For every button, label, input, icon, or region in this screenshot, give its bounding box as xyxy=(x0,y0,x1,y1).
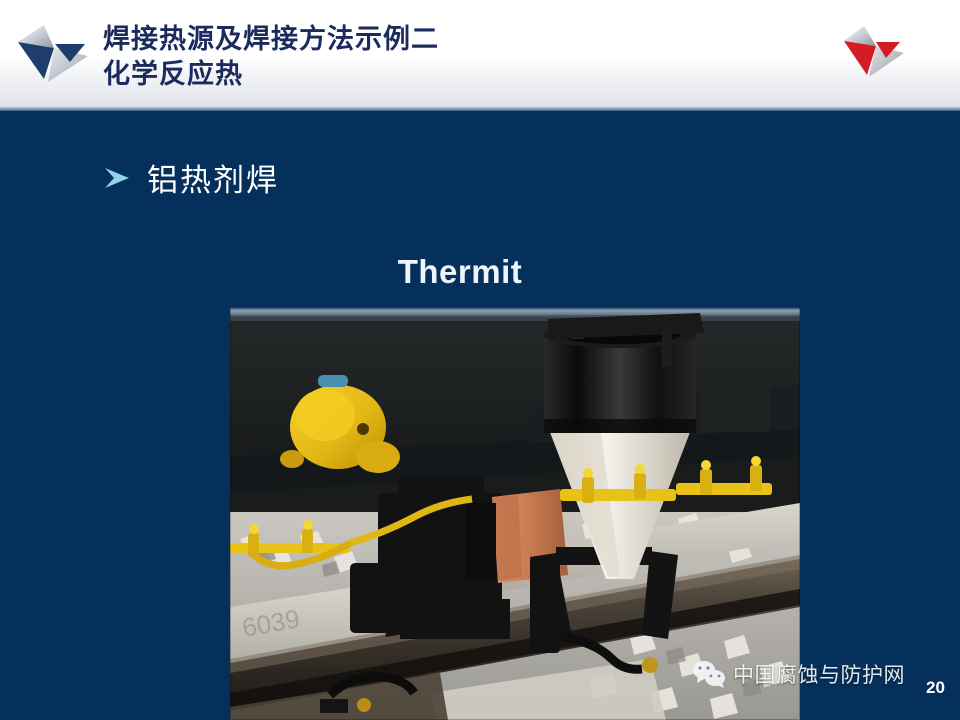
page-number: 20 xyxy=(926,678,945,698)
figure-heading: Thermit xyxy=(0,253,960,291)
page-title: 焊接热源及焊接方法示例二 化学反应热 xyxy=(103,22,439,92)
title-line-2: 化学反应热 xyxy=(103,57,439,92)
arrow-bullet-icon xyxy=(103,165,131,191)
watermark: 中国腐蚀与防护网 xyxy=(692,659,905,689)
presentation-slide: 焊接热源及焊接方法示例二 化学反应热 xyxy=(0,0,960,720)
title-line-1: 焊接热源及焊接方法示例二 xyxy=(103,22,439,57)
watermark-label: 中国腐蚀与防护网 xyxy=(733,659,905,689)
bullet-item: 铝热剂焊 xyxy=(103,155,279,200)
wechat-icon xyxy=(692,660,726,688)
red-silver-triangle-logo-icon xyxy=(838,20,916,86)
navy-silver-triangle-logo-icon xyxy=(14,22,92,88)
bullet-label: 铝热剂焊 xyxy=(147,155,279,200)
